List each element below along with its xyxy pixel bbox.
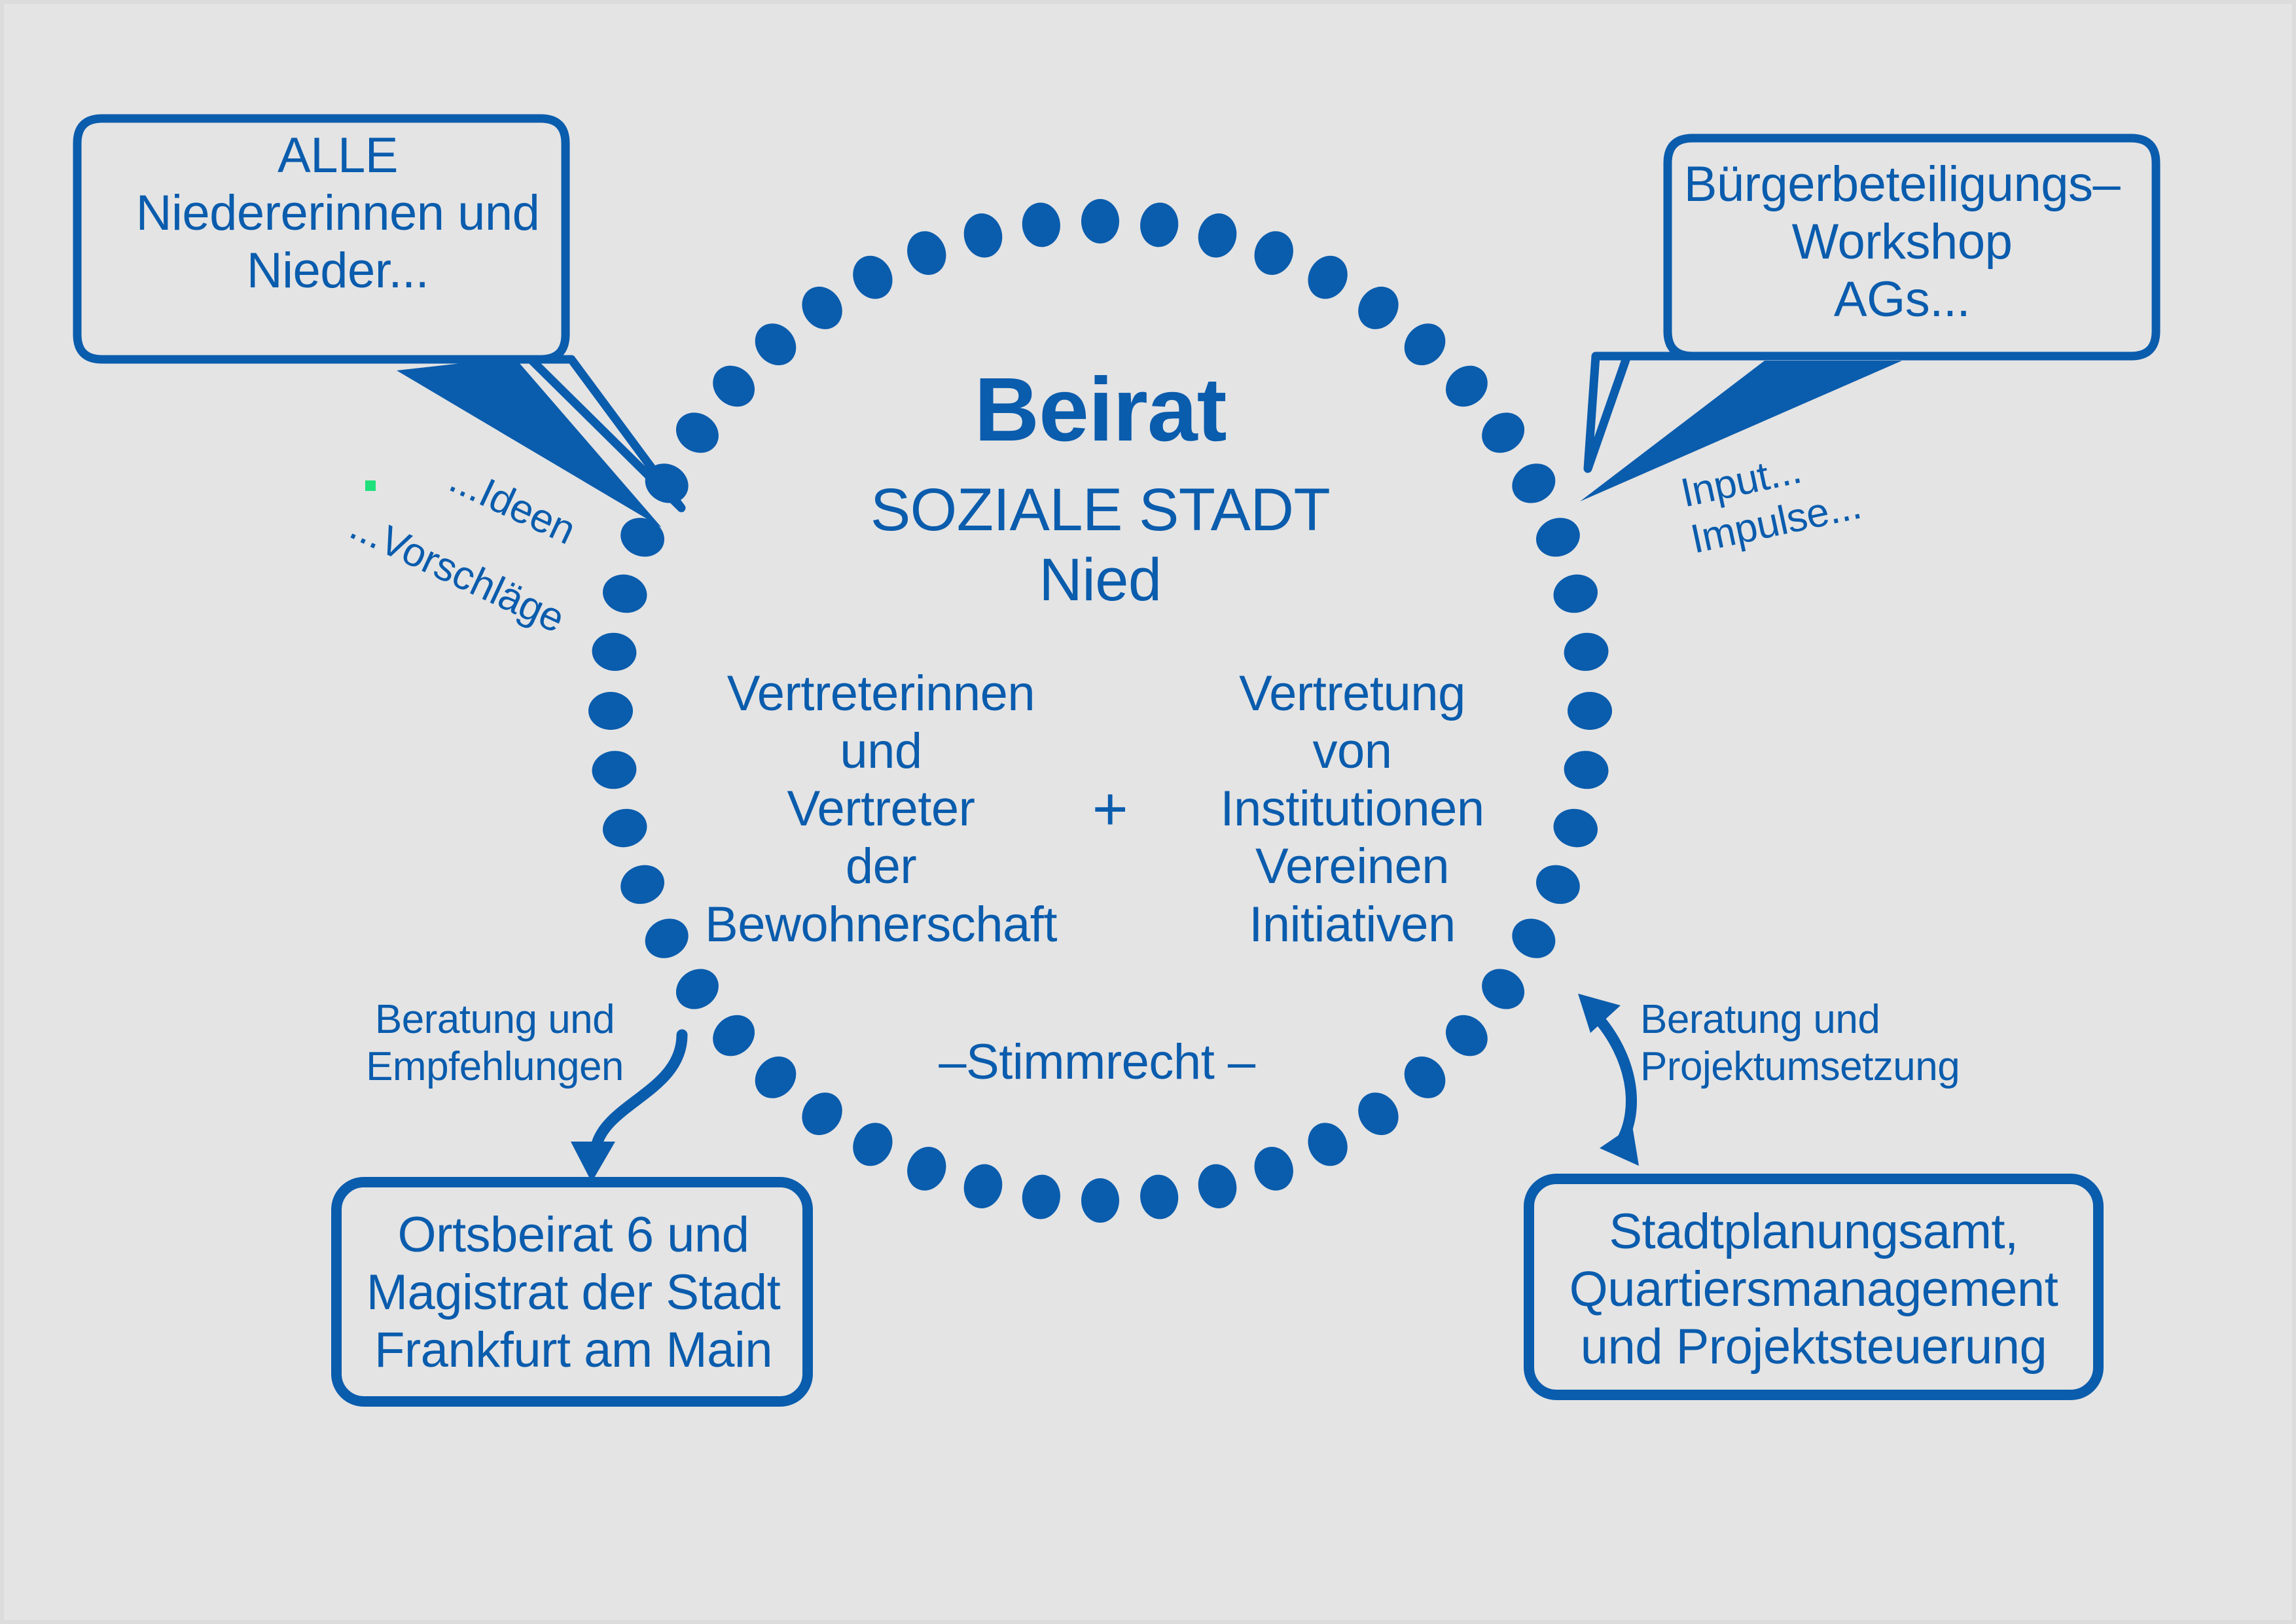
circle-dot bbox=[590, 748, 638, 791]
circle-dot bbox=[1020, 1172, 1063, 1221]
circle-dot bbox=[668, 405, 726, 461]
circle-dot bbox=[1020, 200, 1063, 249]
circle-dot bbox=[1530, 512, 1585, 563]
circle-dot bbox=[1549, 570, 1602, 618]
box-bottom-left-label: Ortsbeirat 6 und Magistrat der Stadt Fra… bbox=[351, 1206, 796, 1379]
bubble-top-left-label: ALLE Niedererinnen und Nieder... bbox=[102, 127, 573, 300]
circle-dot bbox=[668, 961, 726, 1017]
stimmrecht-label: –Stimmrecht – bbox=[914, 1034, 1280, 1091]
circle-dot bbox=[1081, 1178, 1119, 1223]
circle-dot bbox=[615, 859, 670, 910]
circle-dot bbox=[704, 1007, 762, 1065]
circle-dot bbox=[1300, 1116, 1355, 1173]
center-subtitle: SOZIALE STADTNied bbox=[773, 475, 1427, 615]
circle-dot bbox=[747, 1048, 805, 1106]
circle-dot bbox=[794, 1085, 850, 1143]
center-subtitle-line-2: Nied bbox=[1039, 547, 1161, 613]
circle-dot bbox=[1138, 1172, 1181, 1221]
circle-dot bbox=[794, 279, 850, 337]
circle-dot bbox=[1549, 804, 1602, 852]
circle-dot bbox=[1138, 200, 1181, 249]
bubble-top-right-label: Bürgerbeteiligungs– Workshop AGs... bbox=[1666, 156, 2138, 329]
circle-dot bbox=[1300, 249, 1355, 306]
circle-dot bbox=[846, 1116, 900, 1173]
circle-dot bbox=[1396, 1048, 1454, 1106]
circle-dot bbox=[901, 1141, 952, 1196]
circle-dot bbox=[901, 226, 952, 281]
circle-dot bbox=[1350, 279, 1407, 337]
plus-symbol: + bbox=[1064, 773, 1156, 844]
annotation-beratung-projektumsetzung: Beratung und Projektumsetzung bbox=[1640, 996, 1948, 1091]
circle-dot bbox=[1248, 226, 1299, 281]
page-title: Beirat bbox=[773, 357, 1427, 462]
circle-dot bbox=[1194, 209, 1242, 262]
circle-dot bbox=[1474, 405, 1532, 461]
circle-dot bbox=[1081, 199, 1119, 244]
circle-dot bbox=[599, 570, 651, 618]
diagram-canvas: ALLE Niedererinnen und Nieder... Bürgerb… bbox=[0, 0, 2296, 1624]
circle-dot bbox=[1474, 961, 1532, 1017]
circle-dot bbox=[1437, 357, 1496, 416]
circle-dot bbox=[599, 804, 651, 852]
circle-dot bbox=[1437, 1007, 1496, 1065]
center-subtitle-line-1: SOZIALE STADT bbox=[870, 477, 1330, 543]
circle-dot bbox=[1562, 748, 1610, 791]
arrow-beratung-projektumsetzung bbox=[1578, 994, 1639, 1166]
annotation-beratung-empfehlungen: Beratung und Empfehlungen bbox=[357, 996, 632, 1091]
circle-dot bbox=[960, 1160, 1007, 1212]
center-left-column: Vertreterinnen und Vertreter der Bewohne… bbox=[672, 665, 1090, 954]
circle-dot bbox=[588, 692, 633, 730]
box-bottom-right-label: Stadtplanungsamt, Quartiersmanagement un… bbox=[1545, 1203, 2082, 1376]
circle-dot bbox=[1568, 692, 1612, 730]
green-marker-dot bbox=[365, 480, 376, 491]
circle-dot bbox=[1194, 1160, 1242, 1212]
circle-dot bbox=[1562, 630, 1610, 674]
circle-dot bbox=[1350, 1085, 1407, 1143]
center-right-column: Vertretung von Institutionen Vereinen In… bbox=[1149, 665, 1555, 954]
circle-dot bbox=[846, 249, 900, 306]
circle-dot bbox=[960, 209, 1007, 262]
circle-dot bbox=[1248, 1141, 1299, 1196]
circle-dot bbox=[704, 357, 762, 416]
circle-dot bbox=[1505, 456, 1562, 511]
